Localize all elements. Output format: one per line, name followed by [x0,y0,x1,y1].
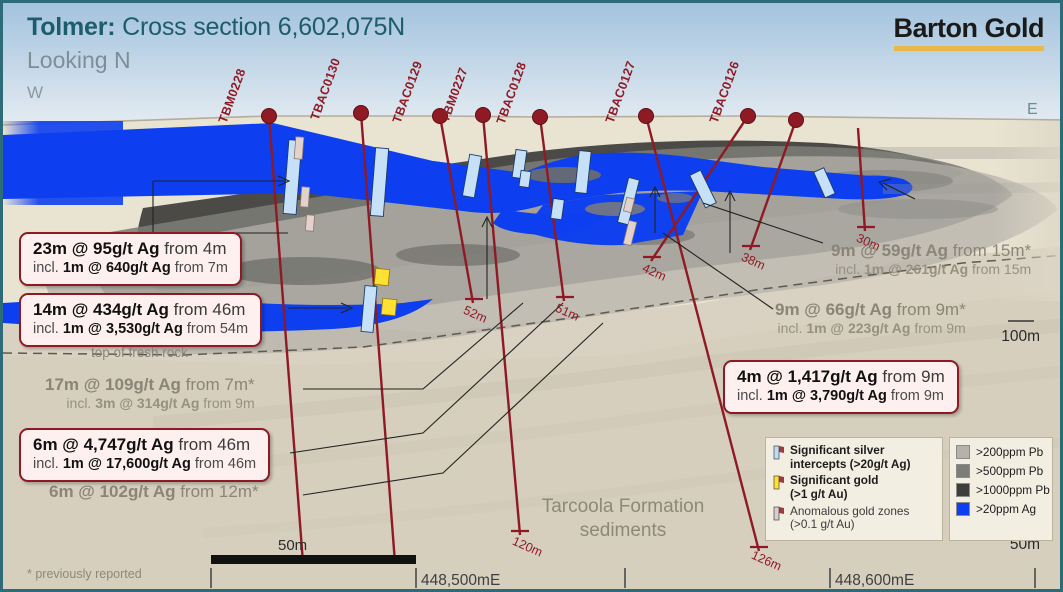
callout-primary-assay: 4m @ 1,417g/t Ag from 9m [737,367,945,387]
assay-label-p2: 6m @ 102g/t Ag from 12m* [49,482,259,502]
callout-incl-from: from 9m [887,388,944,404]
brand-name: Barton Gold [894,13,1045,44]
callout-primary-assay: 23m @ 95g/t Ag from 4m [33,239,228,259]
label-included-assay: incl. 1m @ 223g/t Ag from 9m [775,320,966,338]
label-included-assay: incl. 1m @ 261g/t Ag from 15m [831,261,1031,279]
gold-intercept-flag [773,475,786,490]
brand-underline [894,46,1045,51]
page-subtitle: Looking N [27,47,131,74]
label-primary-assay: 9m @ 59g/t Ag from 15m* [831,241,1031,261]
brand-logo: Barton Gold [894,13,1045,51]
color-swatch [956,502,970,516]
label-primary-grade: 6m @ 102g/t Ag [49,482,175,501]
assay-callout-c1: 23m @ 95g/t Ag from 4mincl. 1m @ 640g/t … [19,232,242,286]
label-primary-grade: 9m @ 66g/t Ag [775,300,892,319]
callout-primary-grade: 23m @ 95g/t Ag [33,239,159,258]
callout-primary-from: from 4m [159,239,226,258]
label-incl-from: from 9m [199,395,254,411]
callout-primary-from: from 46m [169,300,246,319]
label-incl-grade: 3m @ 314g/t Ag [95,395,199,411]
label-incl-prefix: incl. [66,395,95,411]
anomalous-gold-flag [773,506,786,521]
label-primary-from: from 7m* [181,375,255,394]
formation-line-1: Tarcoola Formation [503,495,743,519]
assay-label-p3: 9m @ 59g/t Ag from 15m*incl. 1m @ 261g/t… [831,241,1031,279]
callout-included-assay: incl. 1m @ 3,790g/t Ag from 9m [737,387,945,405]
callout-incl-from: from 46m [191,456,256,472]
formation-label: Tarcoola Formation sediments [503,495,743,543]
assay-callout-c2: 14m @ 434g/t Ag from 46mincl. 1m @ 3,530… [19,293,262,347]
symbol-legend: Significant silverintercepts (>20g/t Ag)… [765,437,943,541]
legend-text-silver-intercept-flag: Significant silverintercepts (>20g/t Ag) [790,444,911,471]
page-title: Tolmer: Cross section 6,602,075N [27,13,405,42]
geochem-legend-label: >500ppm Pb [976,464,1043,478]
formation-line-2: sediments [503,519,743,543]
callout-incl-prefix: incl. [33,321,63,337]
scale-bar-label: 50m [278,537,307,554]
callout-included-assay: incl. 1m @ 640g/t Ag from 7m [33,259,228,277]
silver-intercept-flag [773,445,786,460]
cross-section-figure: Tolmer: Cross section 6,602,075N Looking… [0,0,1063,592]
assay-label-p1: 17m @ 109g/t Ag from 7m*incl. 3m @ 314g/… [45,375,255,413]
callout-included-assay: incl. 1m @ 17,600g/t Ag from 46m [33,455,256,473]
legend-line-1: Anomalous gold zones [790,505,909,519]
label-primary-assay: 17m @ 109g/t Ag from 7m* [45,375,255,395]
top-of-fresh-rock-label: top of fresh rock [91,345,188,360]
color-swatch [956,445,970,459]
geochem-legend-row: >1000ppm Pb [956,483,1046,497]
geochem-legend-label: >20ppm Ag [976,502,1036,516]
label-incl-prefix: incl. [778,320,807,336]
legend-line-2: (>0.1 g/t Au) [790,518,909,532]
assay-label-p4: 9m @ 66g/t Ag from 9m*incl. 1m @ 223g/t … [775,300,966,338]
label-incl-prefix: incl. [835,261,864,277]
callout-incl-grade: 1m @ 17,600g/t Ag [63,456,191,472]
compass-west-label: W [27,83,43,103]
callout-incl-prefix: incl. [33,260,63,276]
axis-ticks [3,558,1063,592]
legend-text-anomalous-gold-flag: Anomalous gold zones(>0.1 g/t Au) [790,505,909,532]
geochem-legend-row: >500ppm Pb [956,464,1046,478]
legend-row-silver-intercept-flag: Significant silverintercepts (>20g/t Ag) [773,444,935,471]
legend-line-2: intercepts (>20g/t Ag) [790,458,911,472]
label-incl-grade: 1m @ 223g/t Ag [806,320,910,336]
label-incl-from: from 9m [910,320,965,336]
label-included-assay: incl. 3m @ 314g/t Ag from 9m [45,395,255,413]
geochem-legend-label: >200ppm Pb [976,445,1043,459]
legend-line-2: (>1 g/t Au) [790,488,878,502]
callout-included-assay: incl. 1m @ 3,530g/t Ag from 54m [33,320,248,338]
callout-primary-grade: 14m @ 434g/t Ag [33,300,169,319]
label-incl-from: from 15m [968,261,1031,277]
label-primary-grade: 17m @ 109g/t Ag [45,375,181,394]
label-primary-from: from 9m* [892,300,966,319]
legend-line-1: Significant gold [790,474,878,488]
legend-row-gold-intercept-flag: Significant gold(>1 g/t Au) [773,474,935,501]
geochem-legend-row: >20ppm Ag [956,502,1046,516]
callout-primary-assay: 6m @ 4,747g/t Ag from 46m [33,435,256,455]
geochem-legend-label: >1000ppm Pb [976,483,1050,497]
legend-row-anomalous-gold-flag: Anomalous gold zones(>0.1 g/t Au) [773,505,935,532]
callout-primary-from: from 46m [174,435,251,454]
callout-incl-prefix: incl. [33,456,63,472]
geochem-legend: >200ppm Pb>500ppm Pb>1000ppm Pb>20ppm Ag [949,437,1053,541]
callout-primary-from: from 9m [878,367,945,386]
callout-primary-assay: 14m @ 434g/t Ag from 46m [33,300,248,320]
callout-incl-grade: 1m @ 640g/t Ag [63,260,171,276]
title-rest: Cross section 6,602,075N [115,13,405,41]
title-bold: Tolmer: [27,13,115,41]
color-swatch [956,483,970,497]
geochem-legend-row: >200ppm Pb [956,445,1046,459]
assay-callout-c4: 4m @ 1,417g/t Ag from 9mincl. 1m @ 3,790… [723,360,959,414]
assay-callout-c3: 6m @ 4,747g/t Ag from 46mincl. 1m @ 17,6… [19,428,270,482]
callout-incl-prefix: incl. [737,388,767,404]
compass-east-label: E [1027,101,1038,119]
label-primary-grade: 9m @ 59g/t Ag [831,241,948,260]
legend-text-gold-intercept-flag: Significant gold(>1 g/t Au) [790,474,878,501]
callout-primary-grade: 4m @ 1,417g/t Ag [737,367,878,386]
legend-line-1: Significant silver [790,444,911,458]
color-swatch [956,464,970,478]
label-primary-from: from 15m* [948,241,1031,260]
callout-incl-grade: 1m @ 3,790g/t Ag [767,388,887,404]
callout-incl-from: from 7m [171,260,228,276]
callout-primary-grade: 6m @ 4,747g/t Ag [33,435,174,454]
label-primary-assay: 9m @ 66g/t Ag from 9m* [775,300,966,320]
callout-incl-grade: 1m @ 3,530g/t Ag [63,321,183,337]
callout-incl-from: from 54m [183,321,248,337]
label-primary-from: from 12m* [175,482,258,501]
label-primary-assay: 6m @ 102g/t Ag from 12m* [49,482,259,502]
label-incl-grade: 1m @ 261g/t Ag [864,261,968,277]
